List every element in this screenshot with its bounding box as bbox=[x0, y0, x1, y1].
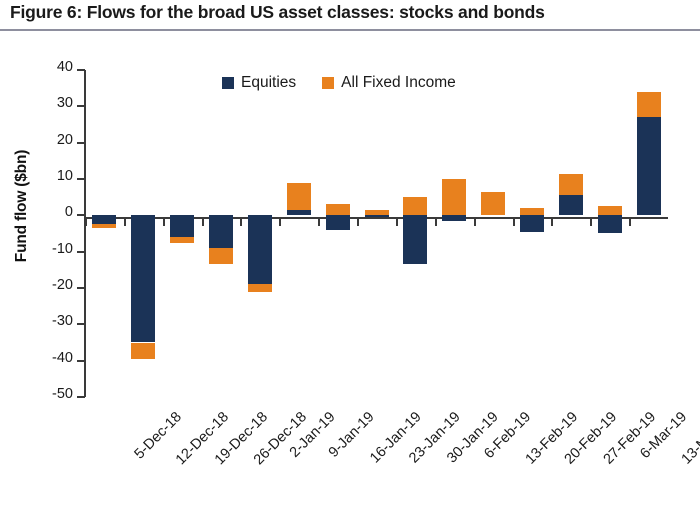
y-axis-tick-label: 20 bbox=[57, 132, 73, 148]
x-axis-tick bbox=[279, 217, 281, 226]
bar-group[interactable] bbox=[209, 70, 233, 397]
title-divider bbox=[0, 29, 700, 31]
y-axis-tick: -10 bbox=[77, 251, 85, 253]
bar-segment-equities[interactable] bbox=[170, 215, 194, 237]
y-axis-tick-label: 10 bbox=[57, 168, 73, 184]
chart-area: Fund flow ($bn) Equities All Fixed Incom… bbox=[0, 32, 700, 512]
bar-segment-equities[interactable] bbox=[248, 215, 272, 284]
bar-segment-all-fixed-income[interactable] bbox=[598, 206, 622, 215]
x-axis-tick bbox=[396, 217, 398, 226]
x-axis-tick bbox=[163, 217, 165, 226]
bar-segment-equities[interactable] bbox=[442, 215, 466, 220]
bar-segment-all-fixed-income[interactable] bbox=[92, 224, 116, 228]
bar-group[interactable] bbox=[170, 70, 194, 397]
bar-group[interactable] bbox=[559, 70, 583, 397]
figure-title: Figure 6: Flows for the broad US asset c… bbox=[10, 2, 694, 23]
bar-group[interactable] bbox=[326, 70, 350, 397]
y-axis-tick-label: -30 bbox=[52, 313, 73, 329]
bar-segment-all-fixed-income[interactable] bbox=[481, 192, 505, 216]
bar-group[interactable] bbox=[598, 70, 622, 397]
bar-segment-all-fixed-income[interactable] bbox=[442, 179, 466, 215]
y-axis-tick-label: 40 bbox=[57, 59, 73, 75]
bar-group[interactable] bbox=[248, 70, 272, 397]
x-axis-tick bbox=[474, 217, 476, 226]
x-axis-tick bbox=[318, 217, 320, 226]
y-axis-tick-label: -10 bbox=[52, 241, 73, 257]
bar-segment-equities[interactable] bbox=[520, 215, 544, 231]
bar-group[interactable] bbox=[131, 70, 155, 397]
bar-segment-all-fixed-income[interactable] bbox=[131, 343, 155, 359]
bar-segment-equities[interactable] bbox=[326, 215, 350, 230]
x-axis-tick bbox=[551, 217, 553, 226]
plot-region: 403020100-10-20-30-40-50 bbox=[85, 70, 668, 397]
bar-group[interactable] bbox=[637, 70, 661, 397]
bar-segment-equities[interactable] bbox=[287, 210, 311, 215]
bar-group[interactable] bbox=[365, 70, 389, 397]
bar-group[interactable] bbox=[403, 70, 427, 397]
y-axis-title: Fund flow ($bn) bbox=[13, 126, 31, 286]
y-axis-tick: -30 bbox=[77, 323, 85, 325]
y-axis-tick: 0 bbox=[77, 214, 85, 216]
bar-segment-all-fixed-income[interactable] bbox=[403, 197, 427, 215]
bar-segment-equities[interactable] bbox=[637, 117, 661, 215]
y-axis-tick: -20 bbox=[77, 287, 85, 289]
bar-group[interactable] bbox=[481, 70, 505, 397]
x-axis-tick bbox=[240, 217, 242, 226]
bar-group[interactable] bbox=[520, 70, 544, 397]
bar-segment-equities[interactable] bbox=[92, 215, 116, 224]
y-axis-tick: 20 bbox=[77, 142, 85, 144]
y-axis-tick-label: -20 bbox=[52, 277, 73, 293]
bar-segment-all-fixed-income[interactable] bbox=[520, 208, 544, 215]
x-axis-tick bbox=[629, 217, 631, 226]
y-axis-tick-label: 30 bbox=[57, 95, 73, 111]
bar-segment-equities[interactable] bbox=[365, 215, 389, 217]
x-axis-tick bbox=[124, 217, 126, 226]
y-axis-tick-label: -50 bbox=[52, 386, 73, 402]
y-axis-tick-label: -40 bbox=[52, 350, 73, 366]
bar-segment-equities[interactable] bbox=[131, 215, 155, 342]
bar-group[interactable] bbox=[287, 70, 311, 397]
bar-segment-all-fixed-income[interactable] bbox=[287, 183, 311, 210]
x-axis-tick bbox=[590, 217, 592, 226]
bar-segment-equities[interactable] bbox=[403, 215, 427, 264]
y-axis-tick: -40 bbox=[77, 360, 85, 362]
bar-segment-equities[interactable] bbox=[559, 195, 583, 215]
x-axis-tick bbox=[202, 217, 204, 226]
y-axis-line bbox=[84, 70, 86, 397]
bar-segment-all-fixed-income[interactable] bbox=[559, 174, 583, 196]
x-axis-tick bbox=[85, 217, 87, 226]
bar-group[interactable] bbox=[92, 70, 116, 397]
bar-segment-all-fixed-income[interactable] bbox=[248, 284, 272, 291]
y-axis-tick: 30 bbox=[77, 105, 85, 107]
bar-segment-all-fixed-income[interactable] bbox=[365, 210, 389, 215]
y-axis-tick: 10 bbox=[77, 178, 85, 180]
bar-segment-all-fixed-income[interactable] bbox=[326, 204, 350, 215]
bar-segment-all-fixed-income[interactable] bbox=[637, 92, 661, 117]
y-axis-tick: 40 bbox=[77, 69, 85, 71]
x-axis-tick bbox=[435, 217, 437, 226]
bar-segment-all-fixed-income[interactable] bbox=[170, 237, 194, 242]
y-axis-tick: -50 bbox=[77, 396, 85, 398]
bar-segment-all-fixed-income[interactable] bbox=[209, 248, 233, 264]
bar-segment-equities[interactable] bbox=[209, 215, 233, 248]
bar-segment-equities[interactable] bbox=[598, 215, 622, 233]
x-axis-tick bbox=[357, 217, 359, 226]
x-axis-tick bbox=[513, 217, 515, 226]
bar-group[interactable] bbox=[442, 70, 466, 397]
y-axis-tick-label: 0 bbox=[65, 204, 73, 220]
